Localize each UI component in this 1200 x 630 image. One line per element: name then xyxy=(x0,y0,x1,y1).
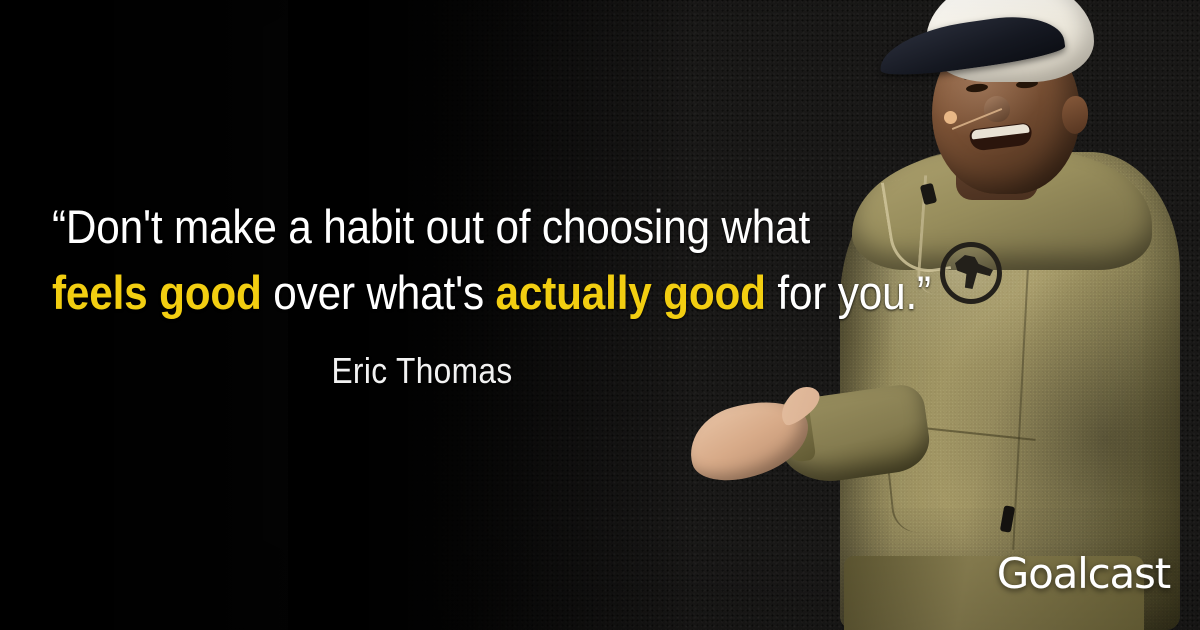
quote-author: Eric Thomas xyxy=(96,350,747,392)
quote-highlight-actually-good: actually good xyxy=(496,266,766,319)
quote-highlight-feels-good: feels good xyxy=(52,266,262,319)
quote-line-1: “Don't make a habit out of choosing what xyxy=(52,196,790,258)
quote-line-2: feels good over what's actually good for… xyxy=(52,262,790,324)
quote-open-quote: “ xyxy=(52,200,66,253)
quote-card: “Don't make a habit out of choosing what… xyxy=(0,0,1200,630)
goalcast-logo[interactable]: Goalcast xyxy=(997,549,1170,598)
quote-line-1-text: Don't make a habit out of choosing what xyxy=(66,200,810,253)
quote-block: “Don't make a habit out of choosing what… xyxy=(52,196,872,392)
quote-line-2-middle: over what's xyxy=(262,266,496,319)
quote-line-2-tail: for you.” xyxy=(766,266,931,319)
